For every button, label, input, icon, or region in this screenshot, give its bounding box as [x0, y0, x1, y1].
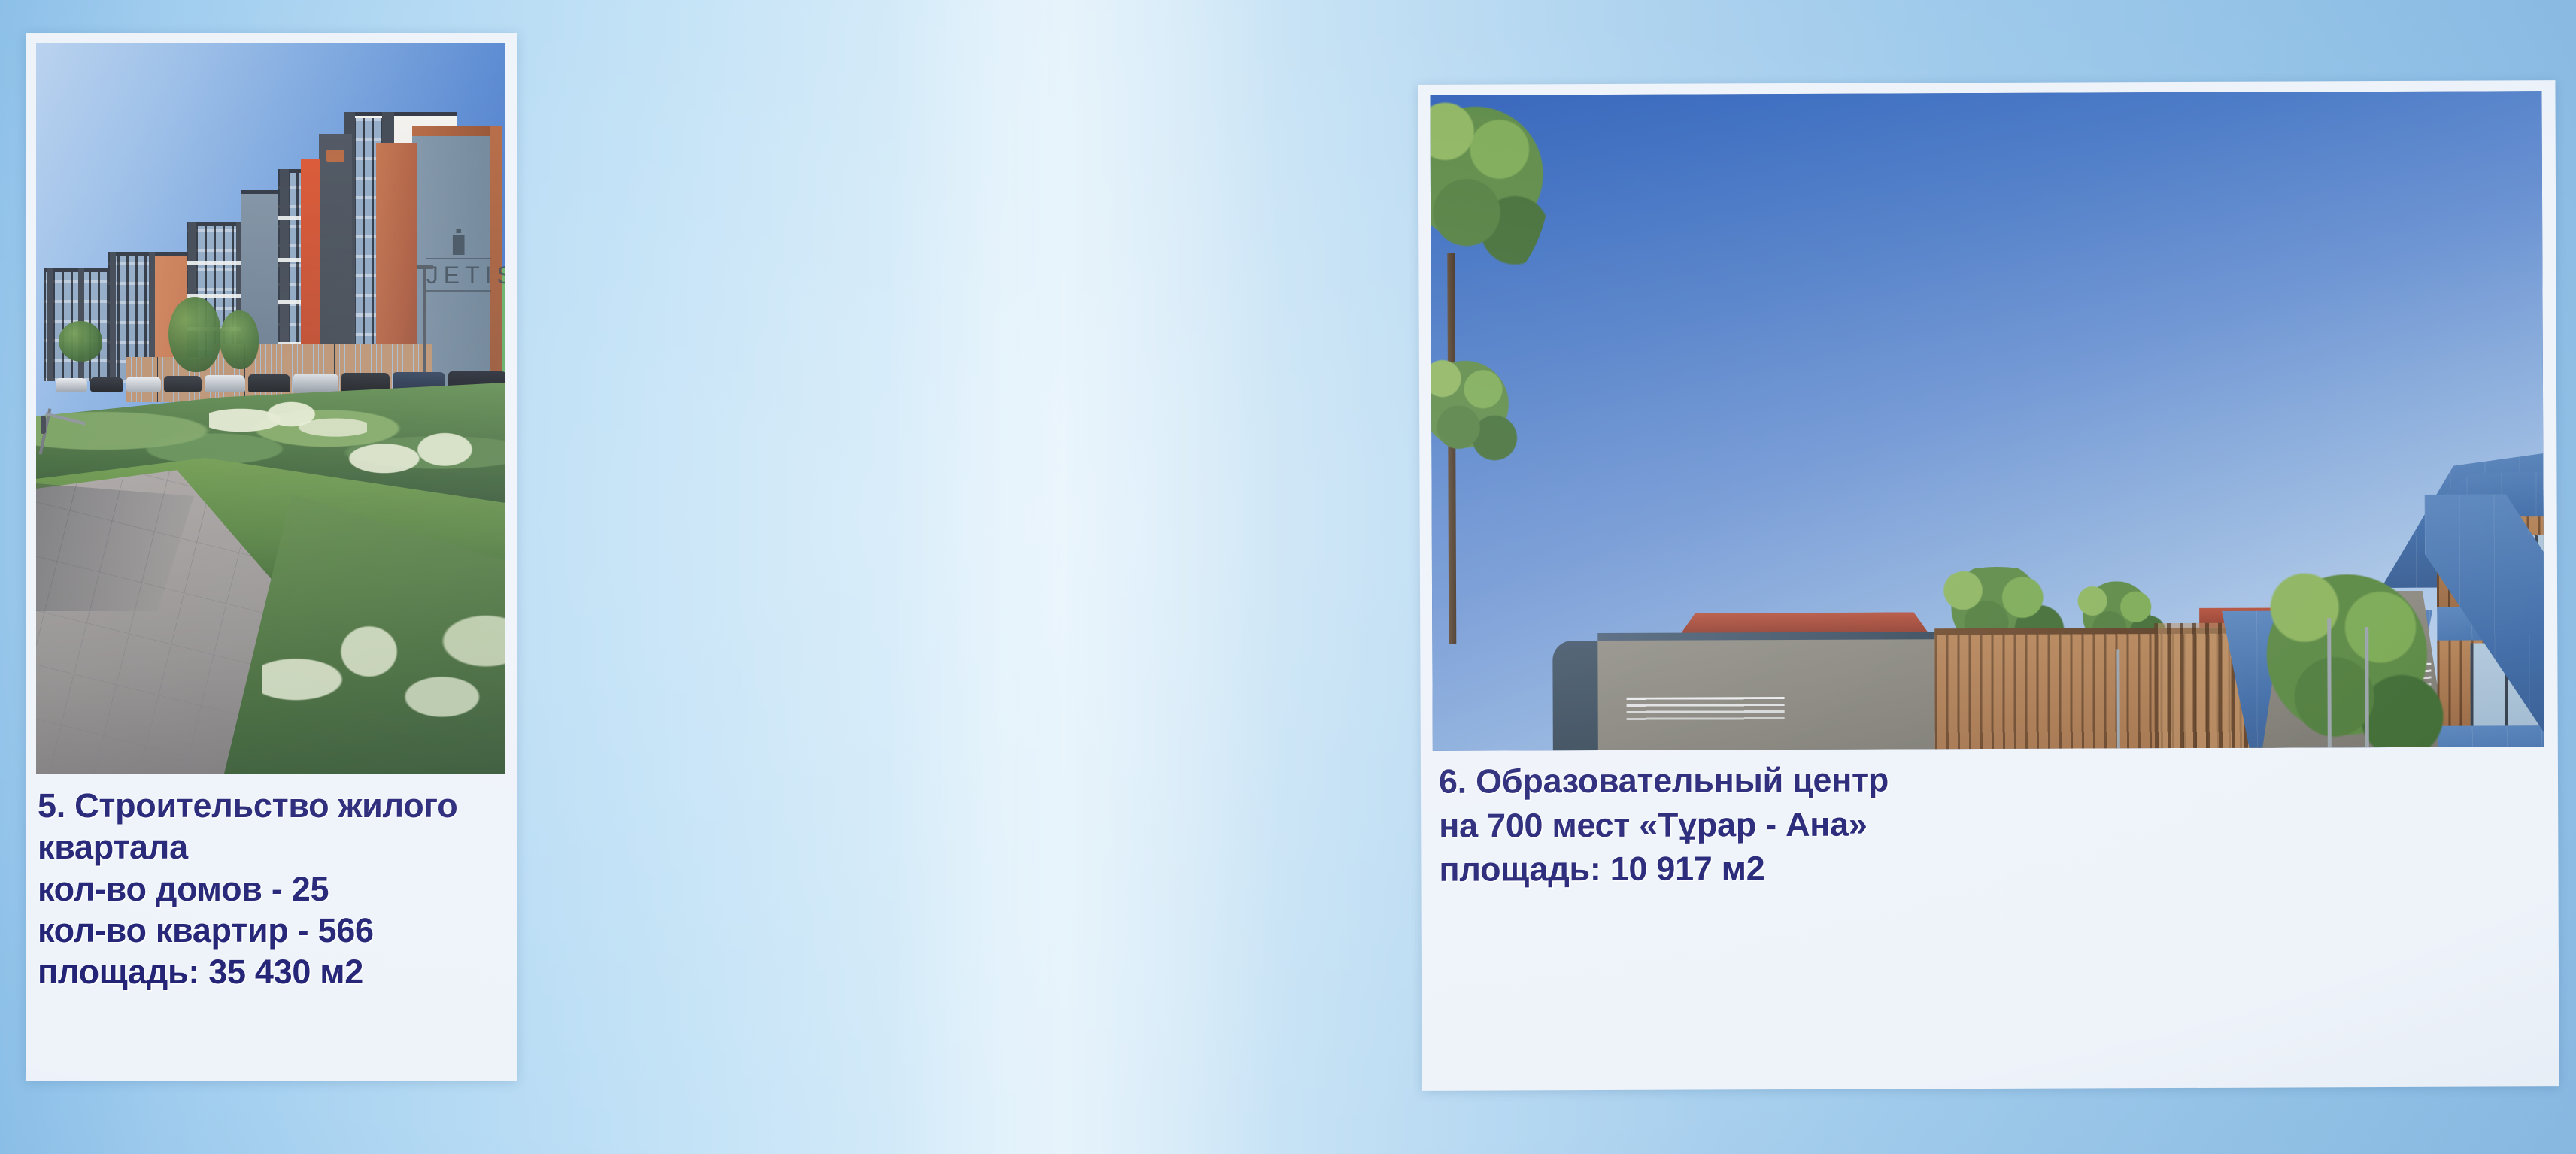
caption-line: кол-во квартир - 566 [38, 910, 517, 951]
caption-residential: 5. Строительство жилого квартала кол-во … [26, 785, 517, 993]
caption-education-centre: 6. Образовательный центр на 700 мест «Тұ… [1421, 756, 2559, 892]
background-roof [1680, 612, 1928, 634]
street-tree [59, 321, 102, 362]
education-centre-render: SCHOOL [1430, 91, 2544, 751]
school-spandrel-2 [2438, 723, 2544, 750]
foreground-planting [262, 599, 505, 774]
wing-signage-text [1627, 697, 1785, 728]
street-tree [220, 310, 259, 369]
caption-line: кол-во домов - 25 [38, 868, 517, 910]
street-tree [168, 297, 221, 372]
project-card-education-centre[interactable]: SCHOOL [1418, 80, 2559, 1091]
wing-parapet [1597, 632, 1936, 641]
jetisu-sign-label: JETISU [426, 259, 491, 290]
caption-line: площадь: 35 430 м2 [38, 951, 517, 992]
project-card-residential[interactable]: JETISU [26, 33, 517, 1081]
caption-line: на 700 мест «Тұрар - Ана» [1439, 800, 2558, 848]
flowering-shrubs [209, 396, 367, 456]
wing-signage-panel [1597, 636, 1937, 751]
background-sheen [887, 0, 1279, 1154]
tower-icon [453, 229, 465, 255]
caption-line: площадь: 10 917 м2 [1439, 844, 2558, 892]
pedestrian [41, 416, 46, 434]
wing-end-wall [1552, 641, 1600, 751]
caption-line: 5. Строительство жилого квартала [38, 785, 517, 868]
jetisu-sign: JETISU [426, 229, 491, 292]
caption-line: 6. Образовательный центр [1439, 756, 2558, 804]
street-lamp-arm [417, 265, 433, 269]
flowering-shrubs [346, 419, 505, 509]
residential-quarter-render: JETISU [36, 43, 505, 774]
